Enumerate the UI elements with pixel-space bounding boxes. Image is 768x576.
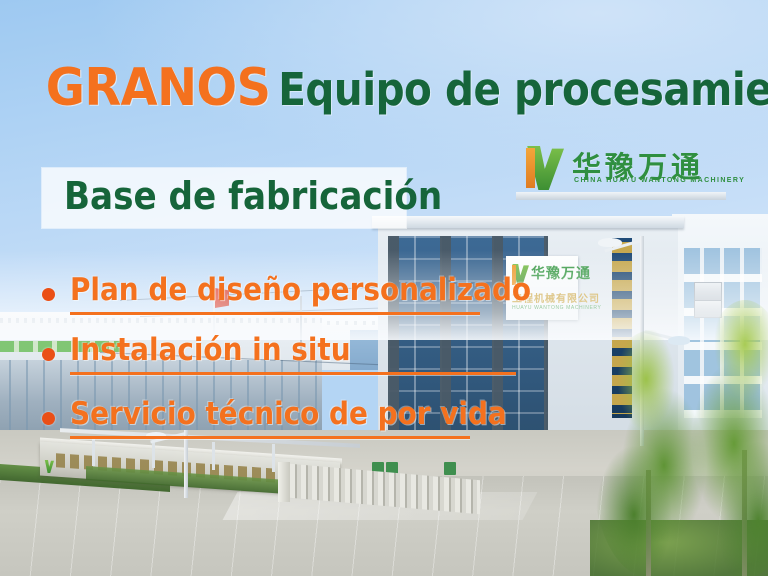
canopy-leg bbox=[212, 442, 215, 470]
canopy-leg bbox=[272, 444, 275, 472]
trash-bin bbox=[444, 462, 456, 475]
canopy-leg bbox=[92, 438, 95, 466]
promotional-banner: 华豫万通 CHINA HUAYU WANTONG MACHINERY 华豫万通 … bbox=[0, 0, 768, 576]
feature-underline bbox=[70, 436, 470, 439]
street-lamp-head bbox=[598, 238, 622, 247]
gate-post bbox=[278, 462, 290, 502]
rooftop-sign-base bbox=[516, 192, 726, 200]
feature-label-3: Servicio técnico de por vida bbox=[70, 396, 507, 432]
feature-underline bbox=[70, 372, 516, 375]
bullet-dot-icon bbox=[42, 348, 55, 361]
feature-underline bbox=[70, 312, 480, 315]
subtitle-box: Base de fabricación bbox=[42, 168, 406, 228]
rooftop-company-sign: 华豫万通 CHINA HUAYU WANTONG MACHINERY bbox=[524, 144, 720, 192]
bullet-dot-icon bbox=[42, 288, 55, 301]
feature-label-1: Plan de diseño personalizado bbox=[70, 272, 531, 308]
headline-highlight-word: GRANOS bbox=[46, 62, 271, 114]
bullet-dot-icon bbox=[42, 412, 55, 425]
street-lamp-pole bbox=[184, 430, 188, 498]
subtitle-label: Base de fabricación bbox=[64, 174, 442, 218]
headline-rest: Equipo de procesamiento bbox=[278, 67, 768, 112]
feature-label-2: Instalación in situ bbox=[70, 332, 351, 368]
rooftop-sign-english-text: CHINA HUAYU WANTONG MACHINERY bbox=[574, 177, 745, 184]
logo-orange-bar-icon bbox=[526, 148, 535, 188]
canopy-leg bbox=[152, 440, 155, 468]
page-title: GRANOSEquipo de procesamiento bbox=[48, 62, 768, 114]
